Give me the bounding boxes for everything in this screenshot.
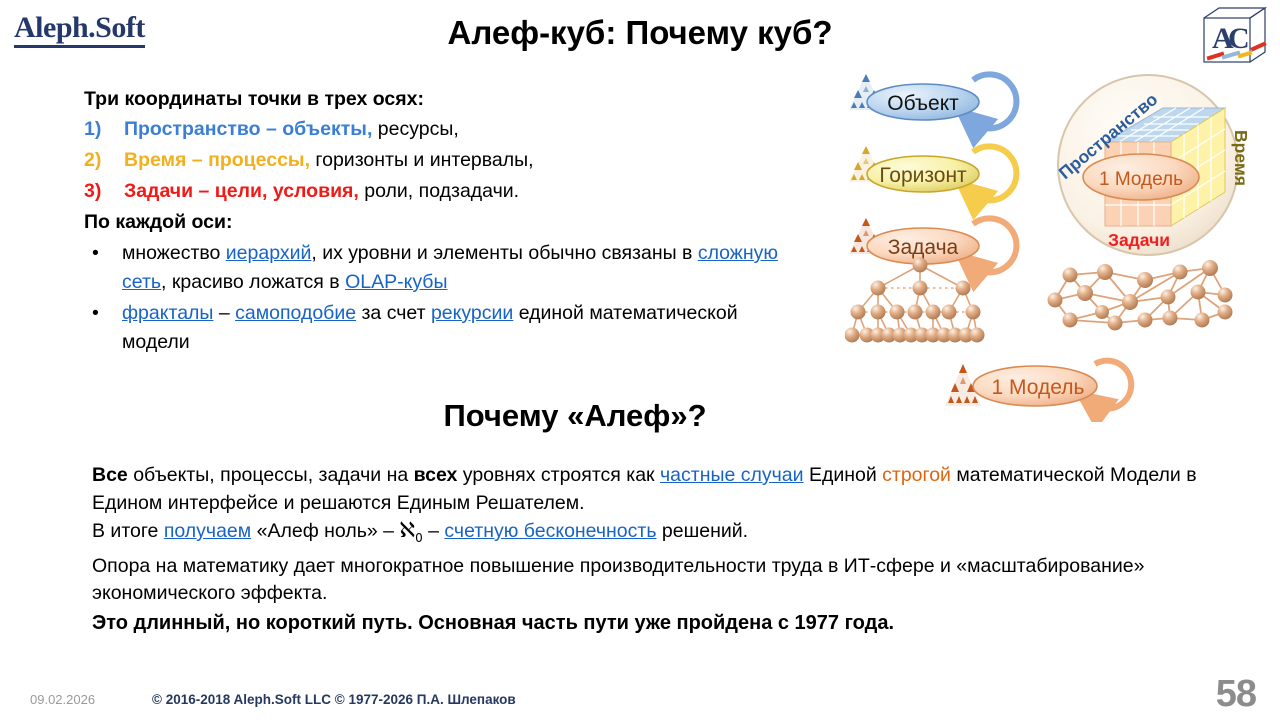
para1-text-3: Единой: [804, 464, 883, 486]
conclusion-block: Все объекты, процессы, задачи на всех ур…: [92, 462, 1222, 638]
conclusion-paragraph-3: Опора на математику дает многократное по…: [92, 553, 1222, 608]
list-text-rest: роли, подзадачи.: [359, 180, 519, 202]
list-text-bold: Пространство – объекты,: [124, 118, 372, 140]
numbered-list: 1) Пространство – объекты, ресурсы, 2) В…: [84, 114, 804, 207]
bullet-list: • множество иерархий, их уровни и элемен…: [84, 239, 804, 357]
cube-label-time: Время: [1231, 130, 1251, 186]
para2-text-3: –: [423, 520, 445, 542]
left-text-column: Три координаты точки в трех осях: 1) Про…: [84, 84, 804, 357]
bullet-text-part: –: [213, 302, 235, 324]
cube-center-label: 1 Модель: [1099, 169, 1183, 190]
list-text-rest: горизонты и интервалы,: [310, 149, 534, 171]
link-countable-infinity[interactable]: счетную бесконечность: [444, 520, 656, 542]
list-number: 2): [84, 145, 124, 176]
cube-center-model: 1 Модель: [1083, 154, 1199, 200]
bullet-text-part: за счет: [356, 302, 431, 324]
list-number: 3): [84, 176, 124, 207]
network-mesh-diagram: [1048, 260, 1233, 331]
aleph-symbol: ℵ0: [399, 518, 422, 542]
axes-header: По каждой оси:: [84, 207, 804, 237]
list-item: • множество иерархий, их уровни и элемен…: [84, 239, 804, 297]
bullet-text-part: , красиво ложатся в: [161, 271, 345, 293]
bullet-text-part: множество: [122, 242, 226, 264]
bullet-marker: •: [84, 239, 122, 297]
conclusion-final-line: Это длинный, но короткий путь. Основная …: [92, 608, 1222, 638]
aleph-subscript: 0: [415, 531, 423, 545]
list-text-rest: ресурсы,: [372, 118, 458, 140]
conclusion-paragraph-1: Все объекты, процессы, задачи на всех ур…: [92, 462, 1222, 517]
para1-orange: строгой: [882, 464, 951, 486]
list-text-bold: Время – процессы,: [124, 149, 310, 171]
para1-text-2: уровнях строятся как: [457, 464, 660, 486]
list-number: 1): [84, 114, 124, 145]
lead-header: Три координаты точки в трех осях:: [84, 84, 804, 114]
bullet-text-part: , их уровни и элементы обычно связаны в: [311, 242, 697, 264]
link-olap-cubes[interactable]: OLAP-кубы: [345, 271, 447, 293]
link-fractals[interactable]: фракталы: [122, 302, 213, 324]
page-number: 58: [1216, 673, 1256, 716]
slide: Aleph.Soft А С Алеф-куб: Почему куб? Три…: [0, 0, 1280, 720]
list-text: Пространство – объекты, ресурсы,: [124, 114, 459, 145]
para1-bold-1: Все: [92, 464, 128, 486]
list-item: 1) Пространство – объекты, ресурсы,: [84, 114, 804, 145]
list-text-bold: Задачи – цели, условия,: [124, 180, 359, 202]
axis-item-horizon: Горизонт: [849, 146, 1016, 200]
link-self-similarity[interactable]: самоподобие: [235, 302, 356, 324]
cube-label-tasks: Задачи: [1108, 230, 1170, 250]
cube-diagram: 1 Модель Пространство Время Задачи: [1055, 75, 1251, 255]
para1-bold-2: всех: [414, 464, 458, 486]
one-model-label: 1 Модель: [992, 376, 1085, 399]
para2-text-1: В итоге: [92, 520, 164, 542]
bullet-marker: •: [84, 299, 122, 357]
axis-label-object: Объект: [887, 92, 959, 115]
section-title: Почему «Алеф»?: [0, 398, 1150, 434]
list-item: 2) Время – процессы, горизонты и интерва…: [84, 145, 804, 176]
axis-label-horizon: Горизонт: [879, 164, 967, 187]
page-title: Алеф-куб: Почему куб?: [0, 14, 1280, 52]
footer-date: 09.02.2026: [30, 692, 95, 707]
list-text: Задачи – цели, условия, роли, подзадачи.: [124, 176, 519, 207]
link-special-cases[interactable]: частные случаи: [660, 464, 804, 486]
link-hierarchies[interactable]: иерархий: [226, 242, 312, 264]
bullet-text: множество иерархий, их уровни и элементы…: [122, 239, 804, 297]
para1-text-1: объекты, процессы, задачи на: [128, 464, 414, 486]
list-text: Время – процессы, горизонты и интервалы,: [124, 145, 534, 176]
bullet-text: фракталы – самоподобие за счет рекурсии …: [122, 299, 804, 357]
list-item: • фракталы – самоподобие за счет рекурси…: [84, 299, 804, 357]
axis-item-object: Объект: [849, 74, 1016, 128]
conclusion-paragraph-2: В итоге получаем «Алеф ноль» – ℵ0 – счет…: [92, 517, 1222, 553]
aleph-glyph: ℵ: [399, 518, 415, 542]
para2-text-4: решений.: [657, 520, 749, 542]
para2-text-2: «Алеф ноль» –: [251, 520, 399, 542]
link-obtain[interactable]: получаем: [164, 520, 251, 542]
hierarchy-tree-diagram: [845, 258, 985, 343]
link-recursion[interactable]: рекурсии: [431, 302, 513, 324]
list-item: 3) Задачи – цели, условия, роли, подзада…: [84, 176, 804, 207]
footer-copyright: © 2016-2018 Aleph.Soft LLC © 1977-2026 П…: [152, 692, 516, 707]
